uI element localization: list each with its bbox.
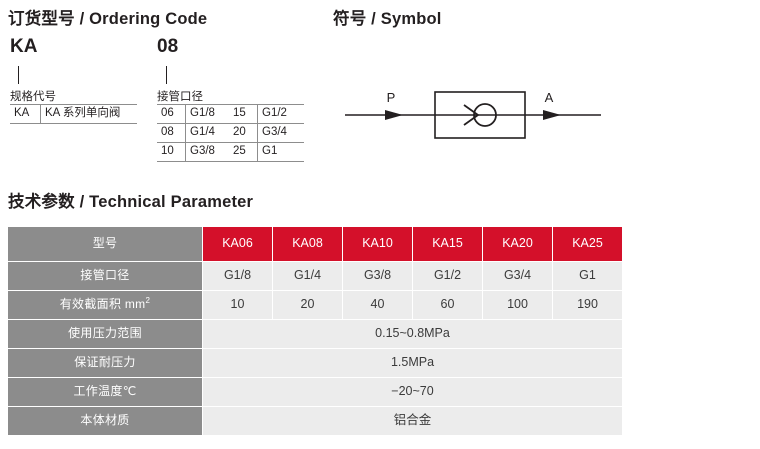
- table-header-row: 型号 KA06 KA08 KA10 KA15 KA20 KA25: [8, 227, 622, 261]
- outlet-port-label: A: [545, 90, 554, 105]
- ordering-label-spec-code: 规格代号: [10, 88, 56, 104]
- bore-thread-cell: G3/4: [258, 124, 305, 143]
- bore-thread-cell: G1: [258, 143, 305, 162]
- row-value: 10: [202, 291, 272, 319]
- row-value: G1/8: [202, 262, 272, 290]
- ordering-stem-series: [18, 66, 19, 84]
- row-label: 接管口径: [8, 262, 202, 290]
- bore-table-left: 06 G1/8 08 G1/4 10 G3/8: [157, 104, 232, 162]
- bore-code-cell: 10: [157, 143, 186, 162]
- row-label-superscript: 2: [145, 296, 150, 305]
- ordering-token-series: KA: [10, 36, 37, 58]
- table-header-model-ka10: KA10: [342, 227, 412, 261]
- row-label: 保证耐压力: [8, 349, 202, 377]
- bore-code-cell: 08: [157, 124, 186, 143]
- bore-thread-cell: G3/8: [186, 143, 233, 162]
- check-valve-symbol-diagram: P A: [333, 60, 633, 150]
- table-row: 15 G1/2: [229, 105, 304, 124]
- row-value: G1: [552, 262, 622, 290]
- row-value: G1/2: [412, 262, 482, 290]
- spec-desc-cell: KA 系列单向阀: [41, 105, 138, 124]
- row-label: 工作温度℃: [8, 378, 202, 406]
- ordering-stem-bore: [166, 66, 167, 84]
- table-row: 06 G1/8: [157, 105, 232, 124]
- row-value-merged: 0.15~0.8MPa: [202, 320, 622, 348]
- table-row: KA KA 系列单向阀: [10, 105, 137, 124]
- table-row: 10 G3/8: [157, 143, 232, 162]
- row-value: 190: [552, 291, 622, 319]
- technical-parameter-section-title: 技术参数 / Technical Parameter: [8, 188, 253, 212]
- row-value-merged: −20~70: [202, 378, 622, 406]
- table-header-model-ka06: KA06: [202, 227, 272, 261]
- check-valve-icon: P A: [333, 60, 633, 150]
- row-value: 40: [342, 291, 412, 319]
- row-value: 100: [482, 291, 552, 319]
- row-value: G3/8: [342, 262, 412, 290]
- row-value-merged: 1.5MPa: [202, 349, 622, 377]
- row-value: 60: [412, 291, 482, 319]
- row-value: G1/4: [272, 262, 342, 290]
- row-value: G3/4: [482, 262, 552, 290]
- bore-table-right: 15 G1/2 20 G3/4 25 G1: [229, 104, 304, 162]
- ordering-token-bore: 08: [157, 36, 178, 58]
- symbol-section-title: 符号 / Symbol: [333, 5, 442, 29]
- bore-thread-cell: G1/8: [186, 105, 233, 124]
- table-row-pressure-range: 使用压力范围 0.15~0.8MPa: [8, 320, 622, 348]
- spec-code-table: KA KA 系列单向阀: [10, 104, 137, 124]
- bore-code-cell: 06: [157, 105, 186, 124]
- table-row-proof-pressure: 保证耐压力 1.5MPa: [8, 349, 622, 377]
- spec-code-cell: KA: [10, 105, 41, 124]
- table-header-model-ka15: KA15: [412, 227, 482, 261]
- bore-code-cell: 20: [229, 124, 258, 143]
- table-header-model-label: 型号: [8, 227, 202, 261]
- ordering-label-bore-size: 接管口径: [157, 88, 203, 104]
- table-header-model-ka20: KA20: [482, 227, 552, 261]
- table-row-port-size: 接管口径 G1/8 G1/4 G3/8 G1/2 G3/4 G1: [8, 262, 622, 290]
- table-row: 20 G3/4: [229, 124, 304, 143]
- ordering-code-section-title: 订货型号 / Ordering Code: [8, 5, 207, 29]
- outlet-arrow-icon: [543, 110, 561, 120]
- bore-code-cell: 25: [229, 143, 258, 162]
- technical-parameter-table: 型号 KA06 KA08 KA10 KA15 KA20 KA25 接管口径 G1…: [8, 226, 622, 436]
- row-label: 有效截面积 mm2: [8, 291, 202, 319]
- table-header-model-ka25: KA25: [552, 227, 622, 261]
- table-row-effective-area: 有效截面积 mm2 10 20 40 60 100 190: [8, 291, 622, 319]
- table-row-body-material: 本体材质 铝合金: [8, 407, 622, 435]
- bore-code-cell: 15: [229, 105, 258, 124]
- table-row-temperature: 工作温度℃ −20~70: [8, 378, 622, 406]
- table-row: 25 G1: [229, 143, 304, 162]
- table-header-model-ka08: KA08: [272, 227, 342, 261]
- row-label: 本体材质: [8, 407, 202, 435]
- bore-thread-cell: G1/2: [258, 105, 305, 124]
- bore-thread-cell: G1/4: [186, 124, 233, 143]
- inlet-port-label: P: [387, 90, 396, 105]
- row-label-text: 有效截面积 mm: [60, 297, 146, 311]
- row-label: 使用压力范围: [8, 320, 202, 348]
- inlet-arrow-icon: [385, 110, 403, 120]
- row-value: 20: [272, 291, 342, 319]
- row-value-merged: 铝合金: [202, 407, 622, 435]
- table-row: 08 G1/4: [157, 124, 232, 143]
